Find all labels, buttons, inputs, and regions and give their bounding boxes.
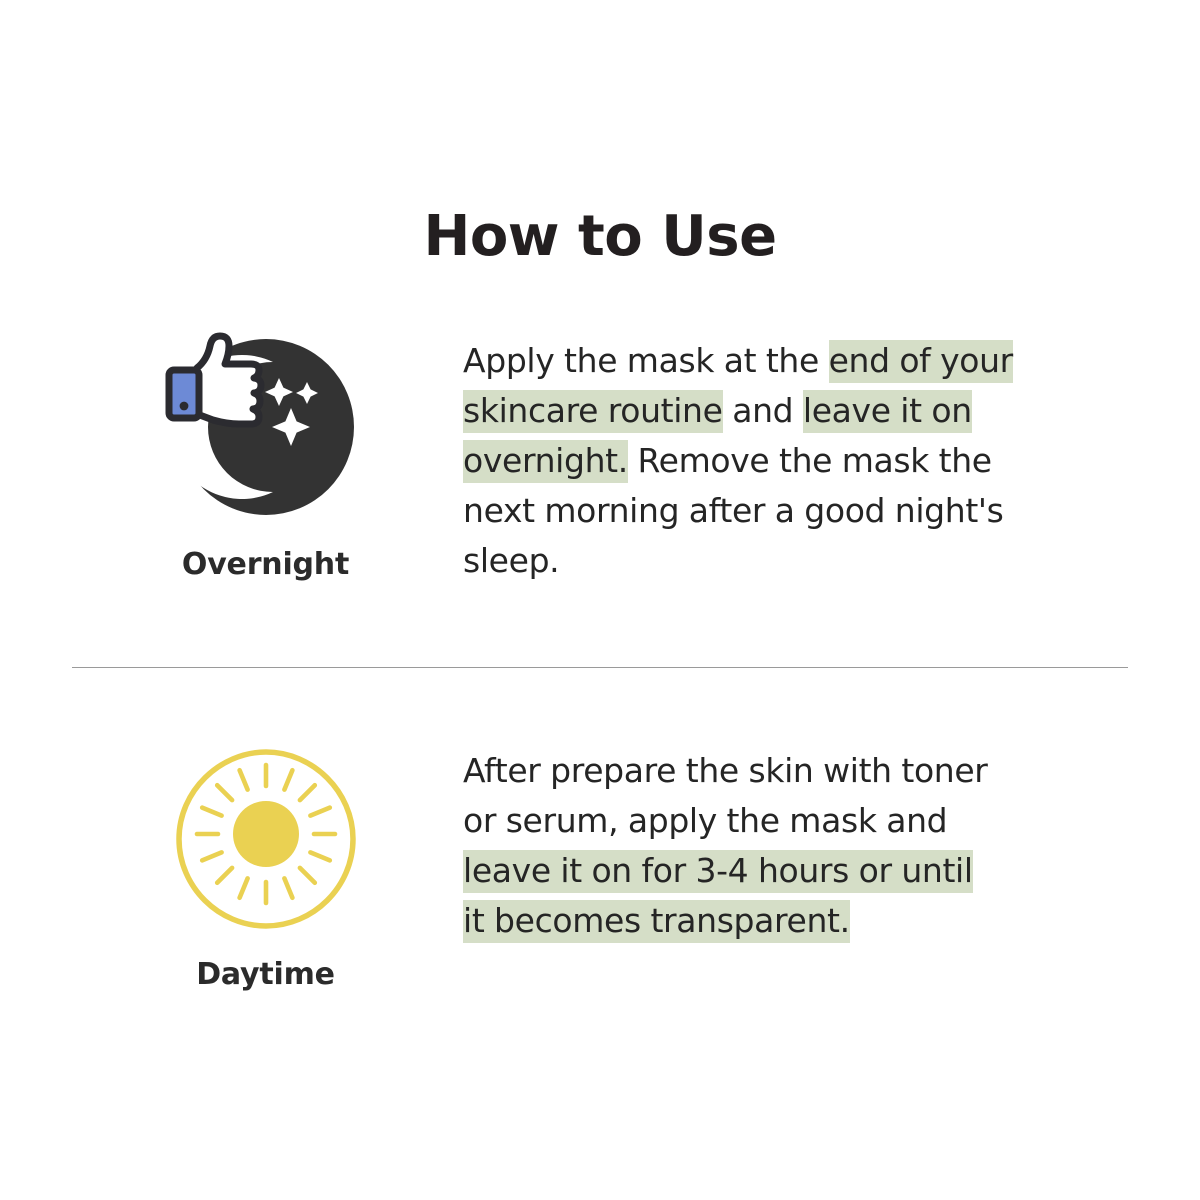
- sun-disc-shape: [233, 801, 299, 867]
- section-divider: [72, 667, 1128, 668]
- thumbs-up-sleeve-dot-shape: [179, 402, 188, 411]
- moon-stars-thumbs-up-icon: [161, 330, 371, 525]
- highlighted-text-segment: leave it on for 3-4 hours or until it be…: [463, 850, 973, 943]
- text-segment: Apply the mask at the: [463, 341, 829, 380]
- overnight-label: Overnight: [118, 547, 413, 582]
- daytime-label: Daytime: [118, 957, 413, 992]
- text-segment: After prepare the skin with toner or ser…: [463, 751, 988, 840]
- page-title: How to Use: [0, 206, 1200, 268]
- thumbs-up-sleeve-shape: [169, 370, 199, 418]
- daytime-instruction-text: After prepare the skin with toner or ser…: [463, 746, 988, 946]
- daytime-icon-column: Daytime: [118, 742, 413, 992]
- section-overnight: Overnight Apply the mask at the end of y…: [0, 330, 1200, 630]
- overnight-instruction-text: Apply the mask at the end of your skinca…: [463, 336, 1033, 586]
- sun-in-circle-icon: [161, 742, 371, 937]
- section-daytime: Daytime After prepare the skin with tone…: [0, 742, 1200, 1042]
- overnight-icon-column: Overnight: [118, 330, 413, 582]
- text-segment: and: [723, 391, 803, 430]
- how-to-use-page: How to Use: [0, 0, 1200, 1200]
